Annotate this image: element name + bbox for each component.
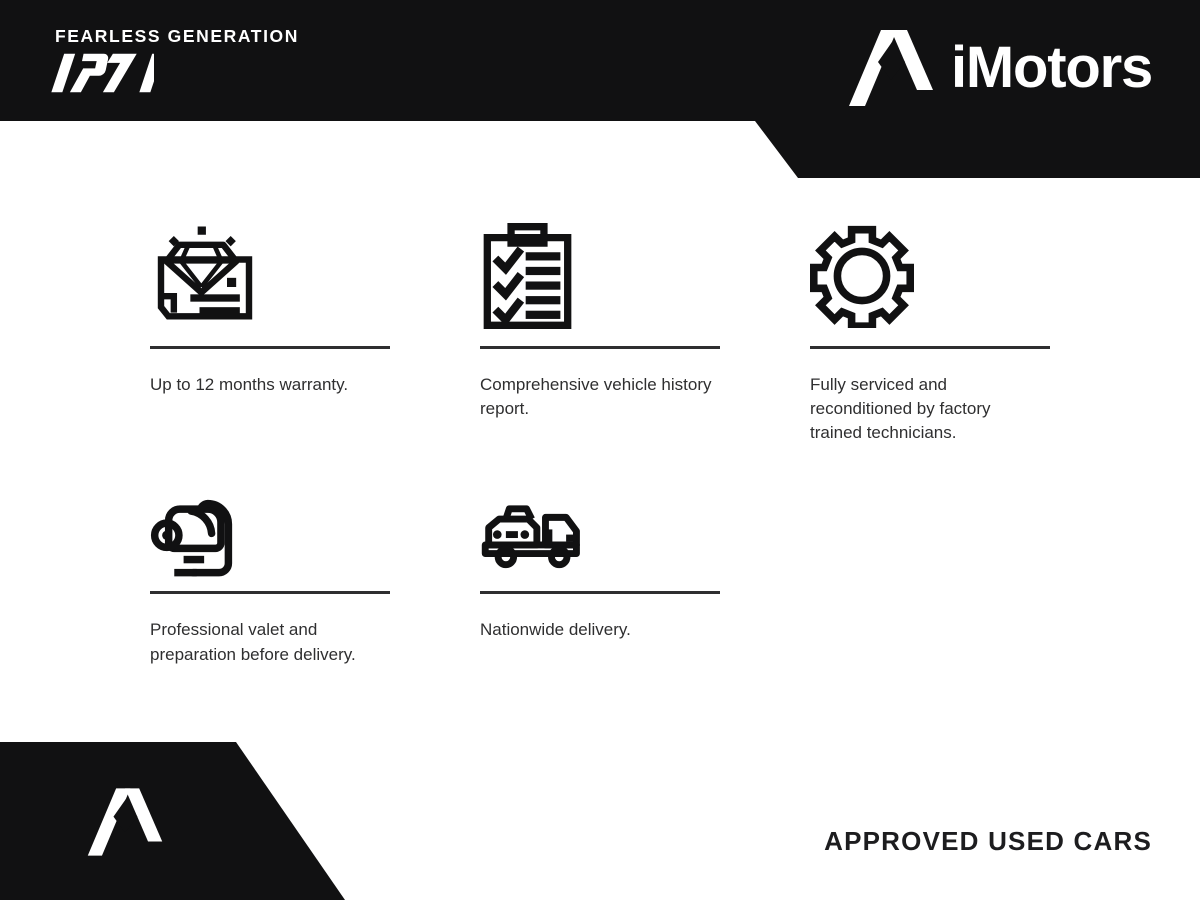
header-logo: iMotors	[847, 28, 1152, 108]
feature-card-serviced: Fully serviced and reconditioned by fact…	[810, 206, 1050, 445]
feature-divider	[480, 591, 720, 594]
feature-label: Nationwide delivery.	[480, 618, 716, 642]
feature-card-delivery: Nationwide delivery.	[480, 473, 720, 666]
feature-divider	[810, 346, 1050, 349]
feature-label: Up to 12 months warranty.	[150, 373, 386, 397]
feature-divider	[480, 346, 720, 349]
features-row-top: Up to 12 months warranty.	[150, 206, 1100, 445]
features-row-bottom: Professional valet and preparation befor…	[150, 473, 1100, 666]
feature-card-valet: Professional valet and preparation befor…	[150, 473, 390, 666]
feature-card-warranty: Up to 12 months warranty.	[150, 206, 390, 445]
footer-tagline: APPROVED USED CARS	[824, 826, 1152, 857]
car-transporter-truck-icon	[480, 473, 720, 591]
clipboard-checklist-icon	[480, 206, 720, 346]
feature-label: Professional valet and preparation befor…	[150, 618, 386, 666]
feature-card-history-report: Comprehensive vehicle history report.	[480, 206, 720, 445]
page-footer	[0, 742, 345, 900]
feature-divider	[150, 591, 390, 594]
feature-divider	[150, 346, 390, 349]
feature-label: Fully serviced and reconditioned by fact…	[810, 373, 1046, 445]
features-grid: Up to 12 months warranty.	[150, 206, 1100, 667]
imotors-chevron-logo-icon	[847, 28, 935, 108]
feature-label: Comprehensive vehicle history report.	[480, 373, 720, 421]
brand-name: iMotors	[951, 39, 1152, 97]
brand-tagline: FEARLESS GENERATION	[55, 26, 299, 47]
vacuum-cleaner-icon	[150, 473, 390, 591]
footer-imotors-chevron-logo-icon	[86, 786, 164, 858]
brand-year-1971-logo	[44, 50, 154, 96]
diamond-certificate-icon	[150, 206, 390, 346]
gear-icon	[810, 206, 1050, 346]
